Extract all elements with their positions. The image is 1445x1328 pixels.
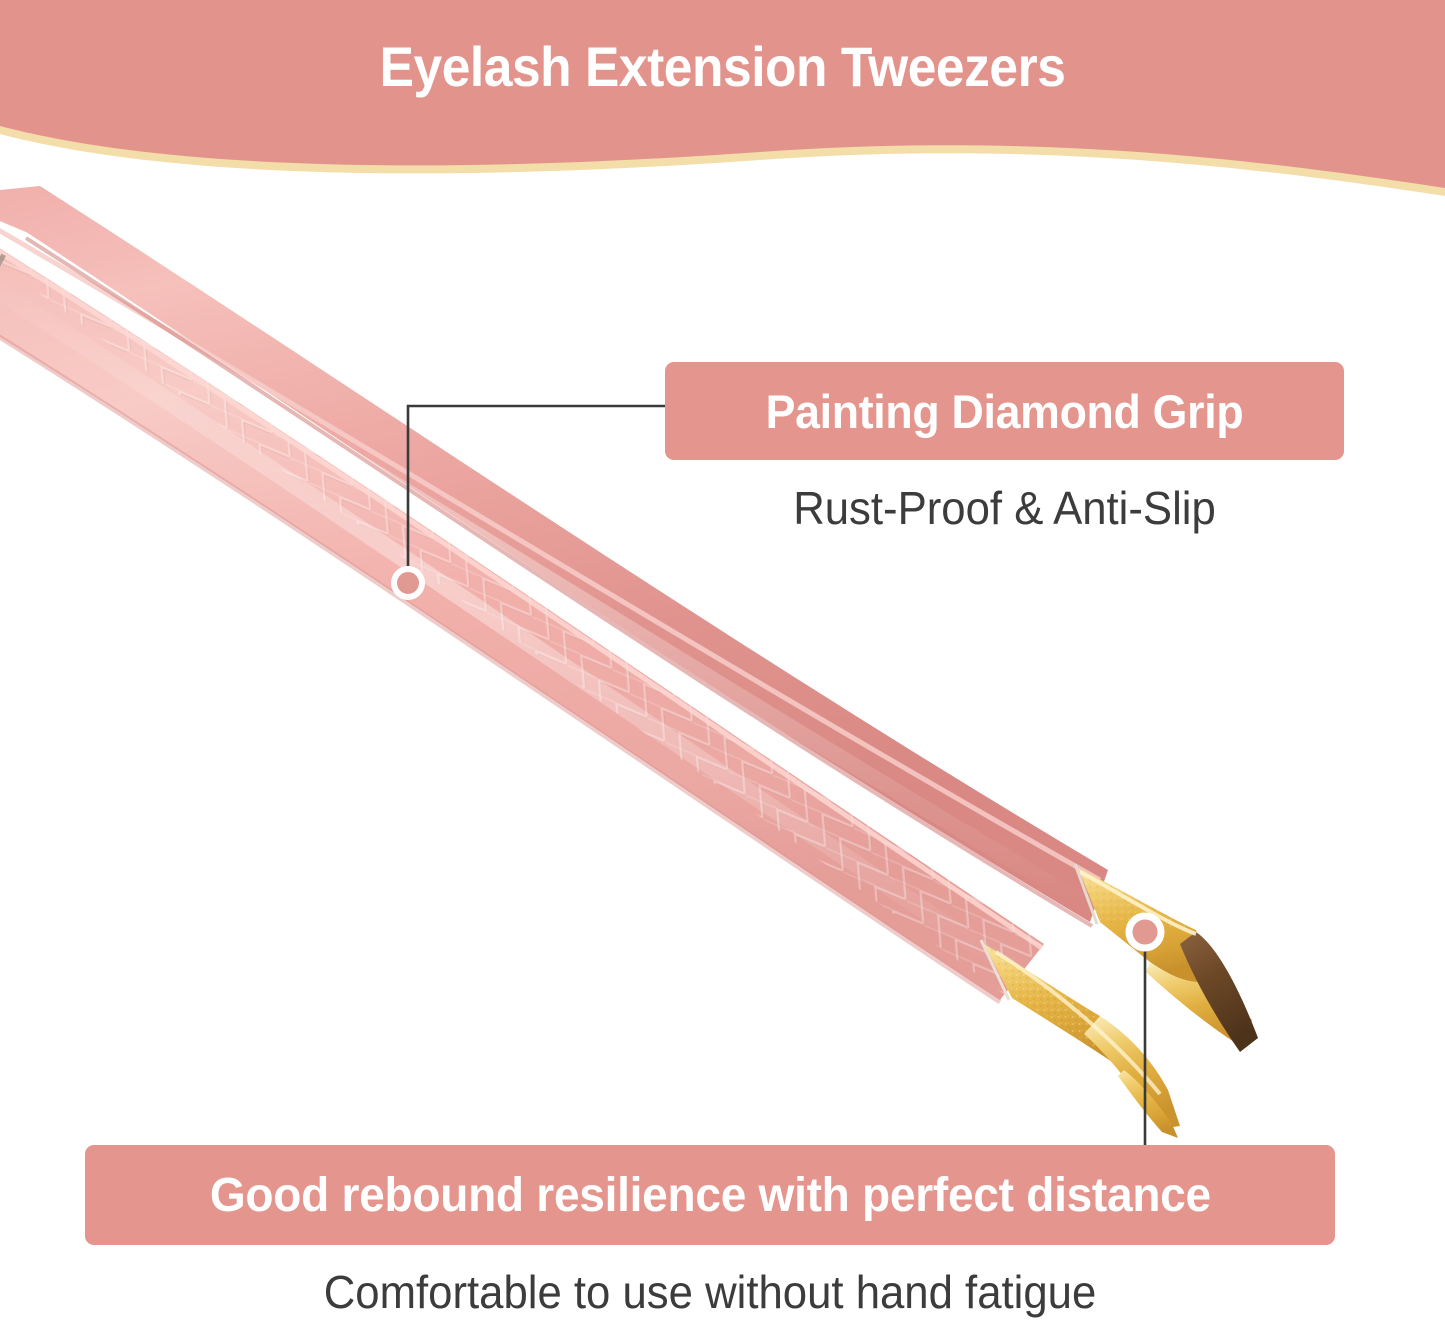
leader-line-1 — [394, 406, 666, 597]
marker-ring-2 — [1129, 916, 1161, 948]
callout-box-good-rebound-resilience: Good rebound resilience with perfect dis… — [85, 1145, 1335, 1245]
marker-ring-1 — [394, 569, 422, 597]
leader-line-2 — [1129, 916, 1161, 1146]
callout-leader-lines — [0, 0, 1445, 1328]
callout-1-label: Painting Diamond Grip — [766, 384, 1244, 439]
callout-2-sublabel: Comfortable to use without hand fatigue — [116, 1265, 1304, 1319]
callout-box-painting-diamond-grip: Painting Diamond Grip — [665, 362, 1344, 460]
callout-2-label: Good rebound resilience with perfect dis… — [209, 1168, 1210, 1223]
callout-1-sublabel: Rust-Proof & Anti-Slip — [682, 481, 1327, 535]
infographic-canvas: Ms.W Eyelash Extension Tweezers — [0, 0, 1445, 1328]
